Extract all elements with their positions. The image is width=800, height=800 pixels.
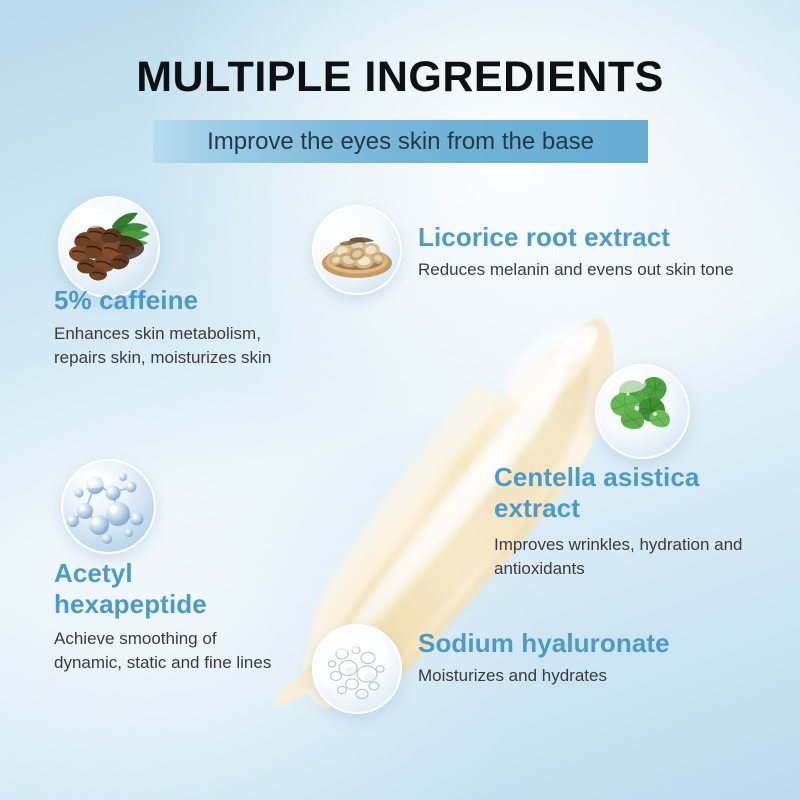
licorice-root-slices-sphere-icon <box>312 205 402 295</box>
sphere-rim <box>312 205 402 295</box>
ingredient-heading-centella: Centella asistica extract <box>494 462 784 524</box>
centella-leaves-sphere-icon <box>595 364 690 459</box>
ingredient-centella: Centella asistica extract Improves wrink… <box>494 462 784 581</box>
ingredient-heading-caffeine: 5% caffeine <box>54 285 284 316</box>
page-title: MULTIPLE INGREDIENTS <box>0 52 800 102</box>
ingredient-body-licorice: Reduces melanin and evens out skin tone <box>418 258 790 282</box>
ingredient-body-caffeine: Enhances skin metabolism, repairs skin, … <box>54 322 284 370</box>
ingredient-sodium-hyaluronate: Sodium hyaluronate Moisturizes and hydra… <box>418 628 768 688</box>
sphere-rim <box>312 624 402 714</box>
ingredient-acetyl-hexapeptide: Acetyl hexapeptide Achieve smoothing of … <box>54 558 284 675</box>
ingredient-body-centella: Improves wrinkles, hydration and antioxi… <box>494 533 784 581</box>
sphere-rim <box>61 459 156 554</box>
subtitle-text: Improve the eyes skin from the base <box>153 120 648 163</box>
ingredient-heading-licorice: Licorice root extract <box>418 222 790 253</box>
ingredient-body-sodium: Moisturizes and hydrates <box>418 664 768 688</box>
sphere-rim <box>58 196 160 298</box>
subtitle-band: Improve the eyes skin from the base <box>153 120 648 163</box>
ingredient-caffeine: 5% caffeine Enhances skin metabolism, re… <box>54 285 284 370</box>
coffee-beans-sphere-icon <box>58 196 160 298</box>
ingredient-licorice: Licorice root extract Reduces melanin an… <box>418 222 790 282</box>
ingredient-heading-sodium: Sodium hyaluronate <box>418 628 768 659</box>
ingredient-heading-acetyl: Acetyl hexapeptide <box>54 558 284 620</box>
molecule-bubbles-sphere-icon <box>61 459 156 554</box>
water-droplets-sphere-icon <box>312 624 402 714</box>
sphere-rim <box>595 364 690 459</box>
ingredient-body-acetyl: Achieve smoothing of dynamic, static and… <box>54 627 284 675</box>
ingredients-infographic: MULTIPLE INGREDIENTS Improve the eyes sk… <box>0 0 800 800</box>
